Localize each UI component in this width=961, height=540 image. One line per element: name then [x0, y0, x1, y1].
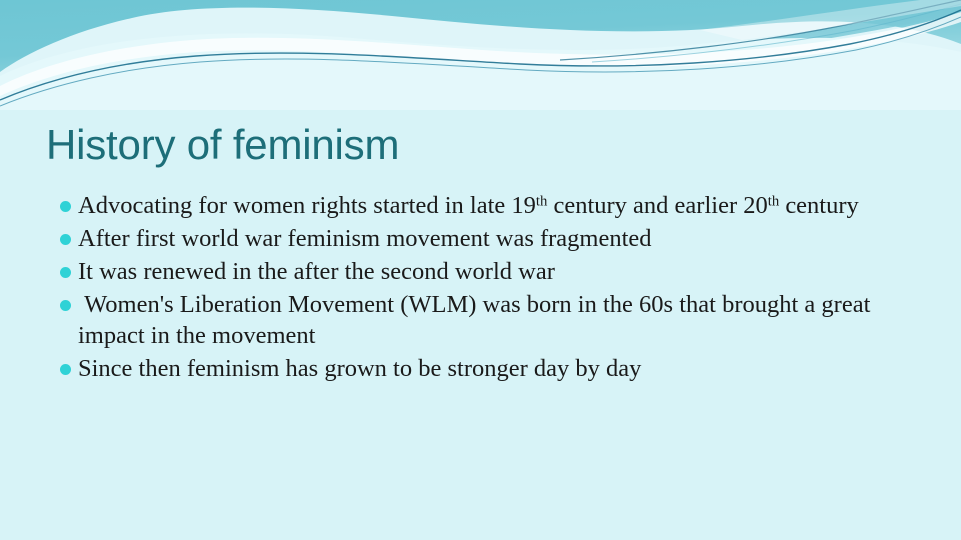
bullet-text-5: Since then feminism has grown to be stro…	[78, 353, 911, 385]
bullet-1-part-b: century and earlier 20	[547, 192, 767, 219]
bullet-text-4: Women's Liberation Movement (WLM) was bo…	[78, 289, 911, 353]
bullet-1-superscript-1: th	[536, 193, 547, 209]
list-item: It was renewed in the after the second w…	[56, 256, 911, 288]
bullet-text-3: It was renewed in the after the second w…	[78, 256, 911, 288]
bullet-1-superscript-2: th	[768, 193, 779, 209]
wave-banner-decoration	[0, 0, 961, 110]
bullet-text-2: After first world war feminism movement …	[78, 223, 911, 255]
bullet-list: Advocating for women rights started in l…	[56, 190, 911, 386]
list-item: After first world war feminism movement …	[56, 223, 911, 255]
wave-right-feather	[700, 0, 961, 40]
bullet-dot-icon	[60, 364, 71, 375]
bullet-dot-icon	[60, 234, 71, 245]
bullet-dot-icon	[60, 300, 71, 311]
list-item: Since then feminism has grown to be stro…	[56, 353, 911, 385]
wave-arc-line-upper	[560, 0, 961, 60]
list-item: Women's Liberation Movement (WLM) was bo…	[56, 289, 911, 353]
wave-teal-main	[0, 0, 961, 72]
presentation-slide: History of feminism Advocating for women…	[0, 0, 961, 540]
wave-pale-crest	[0, 33, 961, 110]
wave-swoosh-line-primary	[0, 10, 961, 100]
wave-arc-line-lower	[592, 4, 961, 62]
bullet-text-1: Advocating for women rights started in l…	[78, 190, 911, 222]
slide-title: History of feminism	[46, 121, 399, 168]
list-item: Advocating for women rights started in l…	[56, 190, 911, 222]
bullet-dot-icon	[60, 267, 71, 278]
bullet-1-part-c: century	[779, 192, 859, 219]
wave-teal-right-band	[560, 0, 961, 60]
wave-swoosh-line-secondary	[0, 17, 961, 106]
bullet-1-part-a: Advocating for women rights started in l…	[78, 192, 536, 219]
wave-white-highlight	[0, 12, 961, 96]
bullet-dot-icon	[60, 201, 71, 212]
